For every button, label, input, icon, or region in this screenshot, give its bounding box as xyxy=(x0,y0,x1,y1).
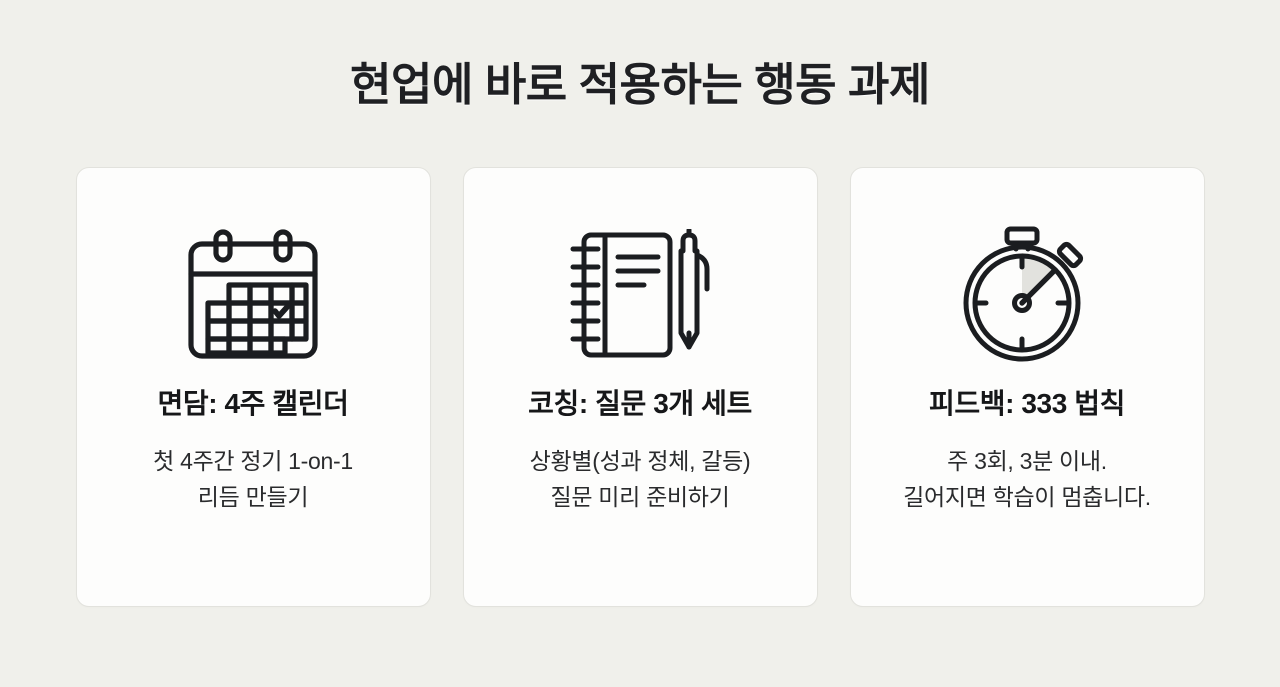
stopwatch-icon xyxy=(960,225,1094,365)
page-title: 현업에 바로 적용하는 행동 과제 xyxy=(350,58,930,112)
card-item[interactable]: 코칭: 질문 3개 세트 상황별(성과 정체, 갈등) 질문 미리 준비하기 xyxy=(463,167,818,607)
calendar-check-icon xyxy=(183,229,323,361)
card-title: 코칭: 질문 3개 세트 xyxy=(528,386,752,421)
card-body: 주 3회, 3분 이내. 길어지면 학습이 멈춥니다. xyxy=(903,444,1151,515)
card-title: 피드백: 333 법칙 xyxy=(929,386,1125,421)
card-icon-wrap xyxy=(960,220,1094,370)
card-body: 첫 4주간 정기 1-on-1 리듬 만들기 xyxy=(153,444,353,515)
card-icon-wrap xyxy=(570,220,710,370)
card-icon-wrap xyxy=(183,220,323,370)
card-item[interactable]: 피드백: 333 법칙 주 3회, 3분 이내. 길어지면 학습이 멈춥니다. xyxy=(850,167,1205,607)
card-body: 상황별(성과 정체, 갈등) 질문 미리 준비하기 xyxy=(530,444,751,515)
card-title: 면담: 4주 캘린더 xyxy=(157,386,348,421)
slide-root: 현업에 바로 적용하는 행동 과제 xyxy=(0,0,1280,687)
notebook-pen-icon xyxy=(570,229,710,361)
card-list: 면담: 4주 캘린더 첫 4주간 정기 1-on-1 리듬 만들기 xyxy=(76,167,1205,607)
card-item[interactable]: 면담: 4주 캘린더 첫 4주간 정기 1-on-1 리듬 만들기 xyxy=(76,167,431,607)
